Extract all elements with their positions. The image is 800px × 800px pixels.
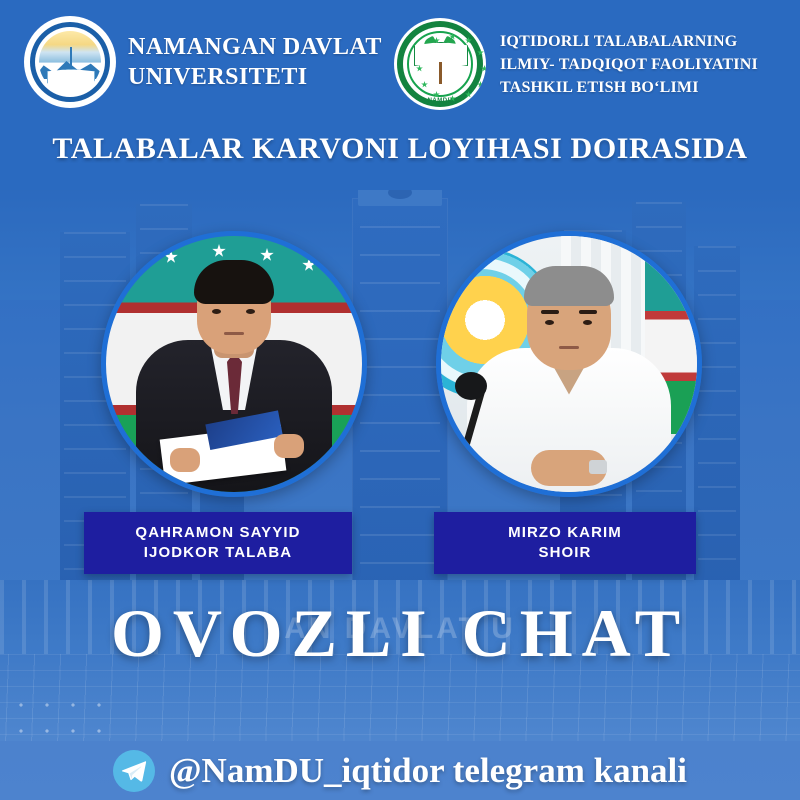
seal-caption: NAMDU	[394, 98, 486, 104]
left-logo-line-1: NAMANGAN DAVLAT	[128, 32, 382, 62]
guest-name-left: QAHRAMON SAYYID	[84, 523, 352, 543]
main-title: OVOZLI CHAT	[0, 594, 800, 673]
right-logo-line-3: TASHKIL ETISH BO‘LIMI	[500, 76, 758, 99]
left-logo-block: NAMANGAN DAVLAT UNIVERSITETI	[26, 18, 382, 106]
right-logo-text: IQTIDORLI TALABALARNING ILMIY- TADQIQOT …	[500, 30, 758, 99]
right-logo-block: NAMDU IQTIDORLI TALABALARNING ILMIY- TAD…	[394, 18, 758, 110]
footer-text: @NamDU_iqtidor telegram kanali	[169, 751, 687, 791]
guest-nameplate-left: QAHRAMON SAYYID IJODKOR TALABA	[84, 512, 352, 574]
guest-photo-right	[436, 231, 702, 497]
logo-row: NAMANGAN DAVLAT UNIVERSITETI	[0, 18, 800, 110]
telegram-icon[interactable]	[113, 750, 155, 792]
left-logo-text: NAMANGAN DAVLAT UNIVERSITETI	[128, 32, 382, 92]
right-logo-line-2: ILMIY- TADQIQOT FAOLIYATINI	[500, 53, 758, 76]
guest-role-right: SHOIR	[434, 543, 696, 563]
right-hand	[274, 434, 304, 458]
microphone-icon	[455, 372, 487, 400]
guest-name-right: MIRZO KARIM	[434, 523, 696, 543]
guest-nameplate-right: MIRZO KARIM SHOIR	[434, 512, 696, 574]
right-logo-line-1: IQTIDORLI TALABALARNING	[500, 30, 758, 53]
left-hand	[170, 448, 200, 472]
namdu-research-department-seal-icon: NAMDU	[394, 18, 486, 110]
wristwatch	[589, 460, 607, 474]
namdu-university-seal-icon	[26, 18, 114, 106]
hair	[524, 266, 614, 306]
poster: AN DAVLAT U NAMANGAN DAVLAT UNIVERSITE	[0, 0, 800, 800]
mouth	[224, 332, 244, 335]
guest-role-left: IJODKOR TALABA	[84, 543, 352, 563]
headline: TALABALAR KARVONI LOYIHASI DOIRASIDA	[0, 132, 800, 166]
left-logo-line-2: UNIVERSITETI	[128, 62, 382, 92]
building-wing-right-3	[694, 246, 740, 592]
footer-bar: @NamDU_iqtidor telegram kanali	[0, 741, 800, 800]
hair	[194, 260, 274, 304]
header-band: NAMANGAN DAVLAT UNIVERSITETI	[0, 0, 800, 190]
guest-photo-left	[101, 231, 367, 497]
